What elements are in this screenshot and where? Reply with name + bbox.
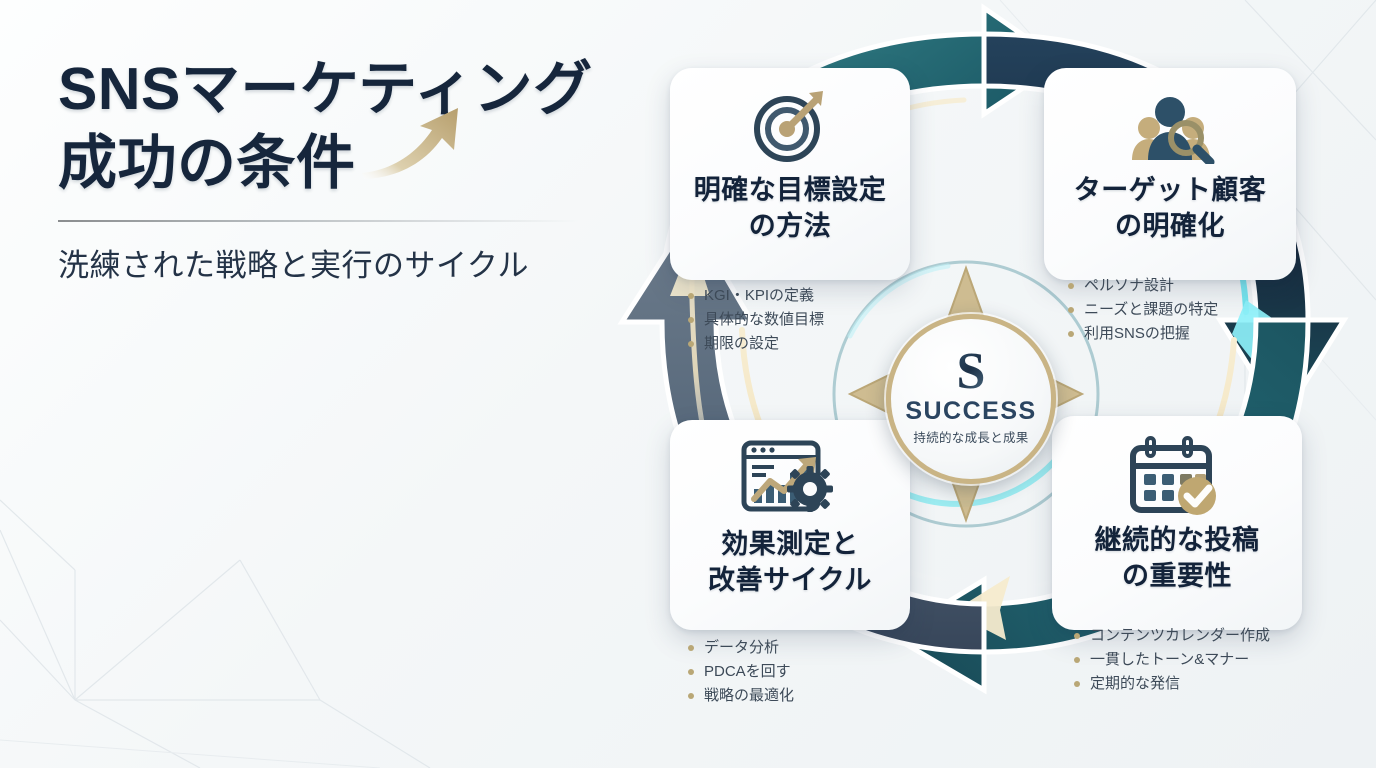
- list-item: 利用SNSの把握: [1068, 322, 1218, 346]
- list-item: 戦略の最適化: [688, 684, 794, 708]
- card-goal[interactable]: 明確な目標設定 の方法 KGI・KPIの定義 具体的な数値目標 期限の設定: [670, 68, 910, 280]
- success-hub-core: S SUCCESS 持続的な成長と成果: [886, 314, 1056, 484]
- audience-search-icon: [1122, 80, 1218, 172]
- success-sublabel: 持続的な成長と成果: [913, 427, 1028, 446]
- page-title-line-1: SNSマーケティング: [58, 52, 618, 126]
- success-label: SUCCESS: [905, 397, 1036, 426]
- list-item: 期限の設定: [688, 332, 824, 356]
- list-item: KGI・KPIの定義: [688, 284, 824, 308]
- card-target-title-line-1: ターゲット顧客: [1074, 172, 1267, 208]
- card-post-title: 継続的な投稿 の重要性: [1095, 522, 1260, 594]
- card-goal-bullets: KGI・KPIの定義 具体的な数値目標 期限の設定: [688, 284, 824, 356]
- list-item: ニーズと課題の特定: [1068, 298, 1218, 322]
- title-block: SNSマーケティング 成功の条件 洗練された戦略と実行のサイクル: [58, 52, 618, 288]
- card-goal-title-line-2: の方法: [694, 208, 887, 244]
- success-logo: S: [957, 349, 986, 395]
- card-post-title-line-2: の重要性: [1095, 558, 1260, 594]
- card-post-bullets: コンテンツカレンダー作成 一貫したトーン&マナー 定期的な発信: [1074, 624, 1270, 696]
- card-measure-title-line-1: 効果測定と: [708, 526, 872, 562]
- list-item: 定期的な発信: [1074, 672, 1270, 696]
- page-subtitle: 洗練された戦略と実行のサイクル: [58, 244, 618, 288]
- list-item: コンテンツカレンダー作成: [1074, 624, 1270, 648]
- growth-arrow-icon: [358, 102, 473, 182]
- success-hub[interactable]: S SUCCESS 持続的な成長と成果: [872, 300, 1060, 488]
- card-measure-title-line-2: 改善サイクル: [708, 562, 872, 598]
- page-title-line-2-text: 成功の条件: [58, 130, 356, 196]
- card-post-title-line-1: 継続的な投稿: [1095, 522, 1260, 558]
- card-post[interactable]: 継続的な投稿 の重要性 コンテンツカレンダー作成 一貫したトーン&マナー 定期的…: [1052, 416, 1302, 630]
- list-item: 具体的な数値目標: [688, 308, 824, 332]
- card-target-bullets: ペルソナ設計 ニーズと課題の特定 利用SNSの把握: [1068, 274, 1218, 346]
- list-item: データ分析: [688, 636, 794, 660]
- target-arrow-icon: [751, 80, 829, 172]
- slide-canvas: SNSマーケティング 成功の条件 洗練された戦略と実行のサイクル: [0, 0, 1376, 768]
- card-target[interactable]: ターゲット顧客 の明確化 ペルソナ設計 ニーズと課題の特定 利用SNSの把握: [1044, 68, 1296, 280]
- card-measure-title: 効果測定と 改善サイクル: [708, 526, 872, 598]
- analytics-gear-icon: [740, 434, 840, 526]
- title-divider: [58, 220, 578, 222]
- cycle-diagram: 明確な目標設定 の方法 KGI・KPIの定義 具体的な数値目標 期限の設定: [592, 0, 1376, 768]
- list-item: PDCAを回す: [688, 660, 794, 684]
- list-item: ペルソナ設計: [1068, 274, 1218, 298]
- card-measure-bullets: データ分析 PDCAを回す 戦略の最適化: [688, 636, 794, 708]
- card-target-title-line-2: の明確化: [1074, 208, 1267, 244]
- card-goal-title: 明確な目標設定 の方法: [694, 172, 887, 244]
- list-item: 一貫したトーン&マナー: [1074, 648, 1270, 672]
- card-target-title: ターゲット顧客 の明確化: [1074, 172, 1267, 244]
- page-title-line-2: 成功の条件: [58, 126, 618, 200]
- card-goal-title-line-1: 明確な目標設定: [694, 172, 887, 208]
- calendar-check-icon: [1129, 430, 1225, 522]
